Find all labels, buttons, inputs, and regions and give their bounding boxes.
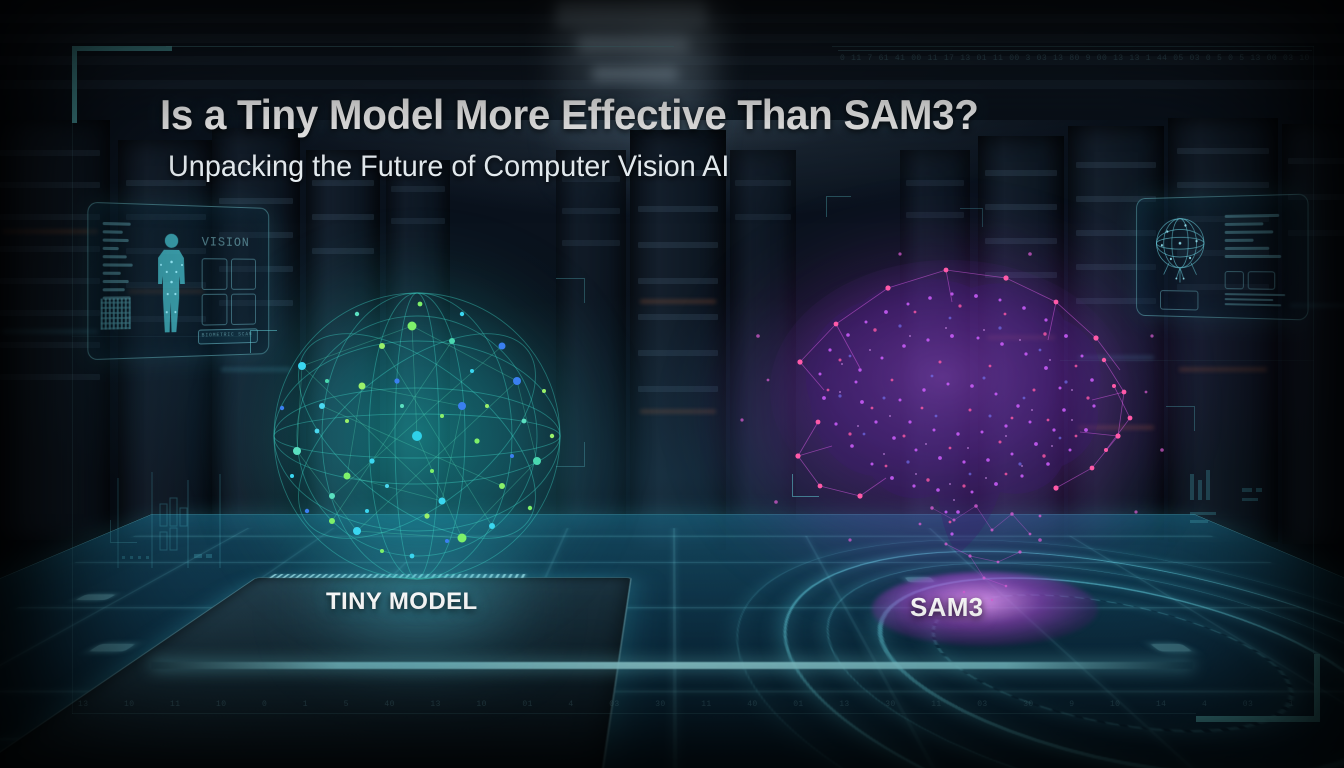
panel-preview-tile [1160,290,1198,310]
ticker-value: 3 [1026,54,1031,66]
ticker-value: 11 [993,54,1003,66]
ticker-value: 44 [1157,54,1167,66]
ticker-value: 9 [1086,54,1091,66]
frame-line-bottom [72,713,1196,714]
panel-tile [202,294,228,326]
ticker-value: 03 [1190,54,1200,66]
ticker-value: 03 [977,700,987,712]
tracking-bracket [556,442,585,467]
ticker-value: 03 [1243,700,1253,712]
ticker-value: 03 [1283,54,1293,66]
top-ticker-rule [838,50,1312,51]
ticker-value: 11 [170,700,180,712]
ticker-value: 0 [1228,54,1233,66]
ticker-value: 03 [1037,54,1047,66]
ticker-value: 01 [793,700,803,712]
ticker-value: 13 [1250,54,1260,66]
ticker-value: 13 [78,700,88,712]
ticker-value: 11 [851,54,861,66]
ticker-value: 11 [928,54,938,66]
frame-line-top-right [832,46,1314,47]
ticker-value: 5 [1217,54,1222,66]
ticker-value: 41 [895,54,905,66]
ticker-value: 17 [944,54,954,66]
ticker-value: 13 [1113,54,1123,66]
panel-data-lines [103,222,133,300]
ticker-value: 1 [303,700,308,712]
hud-marks-right [1186,468,1276,538]
ticker-value: 13 [960,54,970,66]
ticker-value: 13 [1129,54,1139,66]
page-subtitle: Unpacking the Future of Computer Vision … [168,146,729,188]
ticker-value: 0 [840,54,845,66]
scan-line [72,336,252,337]
frame-line-left [72,118,73,714]
hero-banner: VISION BIOMETRIC SCAN [0,0,1344,768]
ticker-value: 1 [1146,54,1151,66]
ticker-value: 00 [1097,54,1107,66]
ticker-value: 80 [1069,54,1079,66]
tracking-bracket [556,278,585,303]
platform-front-edge [151,662,1193,669]
ticker-value: 11 [931,700,941,712]
ticker-value: 1 [1289,700,1294,712]
panel-tile [231,259,256,290]
panel-data-lines [1225,214,1282,258]
human-body-scan-icon [146,231,196,337]
ticker-value: 14 [1156,700,1166,712]
ticker-value: 40 [747,700,757,712]
frame-line-top [166,46,674,47]
tracking-bracket [1166,406,1195,431]
ticker-value: 4 [568,700,573,712]
panel-tile [231,294,256,325]
ticker-value: 4 [1202,700,1207,712]
tracking-bracket [250,330,277,353]
ticker-value: 5 [1239,54,1244,66]
frame-line-right [1313,46,1314,654]
hud-bar-chart [112,470,232,575]
panel-tile [1225,271,1244,289]
top-ticker: 0 11 7 61 41 00 11 17 13 01 11 00 3 03 1… [840,54,1310,66]
ticker-value: 9 [1069,700,1074,712]
microchip [0,577,632,768]
ticker-value: 10 [476,700,486,712]
ticker-value: 00 [1267,54,1277,66]
qr-code [101,298,131,329]
ticker-value: 10 [1299,54,1309,66]
ticker-value: 10 [124,700,134,712]
ticker-value: 01 [977,54,987,66]
brain-scan-panel[interactable] [1136,194,1308,321]
frame-bracket-top-left [72,46,172,123]
ticker-value: 13 [839,700,849,712]
ticker-value: 30 [1023,700,1033,712]
ticker-value: 5 [344,700,349,712]
ticker-value: 05 [1173,54,1183,66]
panel-data-lines [1225,293,1286,306]
ticker-value: 01 [522,700,532,712]
ticker-value: 00 [1009,54,1019,66]
ticker-value: 00 [911,54,921,66]
panel-heading: VISION [202,234,250,250]
ticker-value: 10 [216,700,226,712]
ticker-value: 13 [1053,54,1063,66]
tiny-model-label: TINY MODEL [326,588,478,616]
tracking-bracket [826,196,851,217]
ticker-value: 13 [430,700,440,712]
tracking-bracket [792,474,819,497]
bottom-ticker: 13 10 11 10 0 1 5 40 13 10 01 4 03 30 11… [78,700,1294,712]
ticker-value: 7 [867,54,872,66]
ticker-value: 61 [879,54,889,66]
ticker-value: 03 [609,700,619,712]
scan-line [1060,360,1314,361]
ticker-value: 0 [262,700,267,712]
tiny-model-node-sphere [262,286,572,586]
ticker-value: 30 [655,700,665,712]
panel-tile [202,258,228,290]
footer-tag-label: BIOMETRIC SCAN [202,331,255,338]
ticker-value: 10 [1110,700,1120,712]
panel-tile [1248,271,1276,290]
ticker-value: 30 [885,700,895,712]
ticker-value: 0 [1206,54,1211,66]
ticker-value: 11 [701,700,711,712]
page-title: Is a Tiny Model More Effective Than SAM3… [160,88,979,142]
tracking-bracket [960,208,983,227]
brain-wireframe-icon [1149,213,1213,285]
ticker-value: 40 [384,700,394,712]
sam3-label: SAM3 [910,592,983,623]
